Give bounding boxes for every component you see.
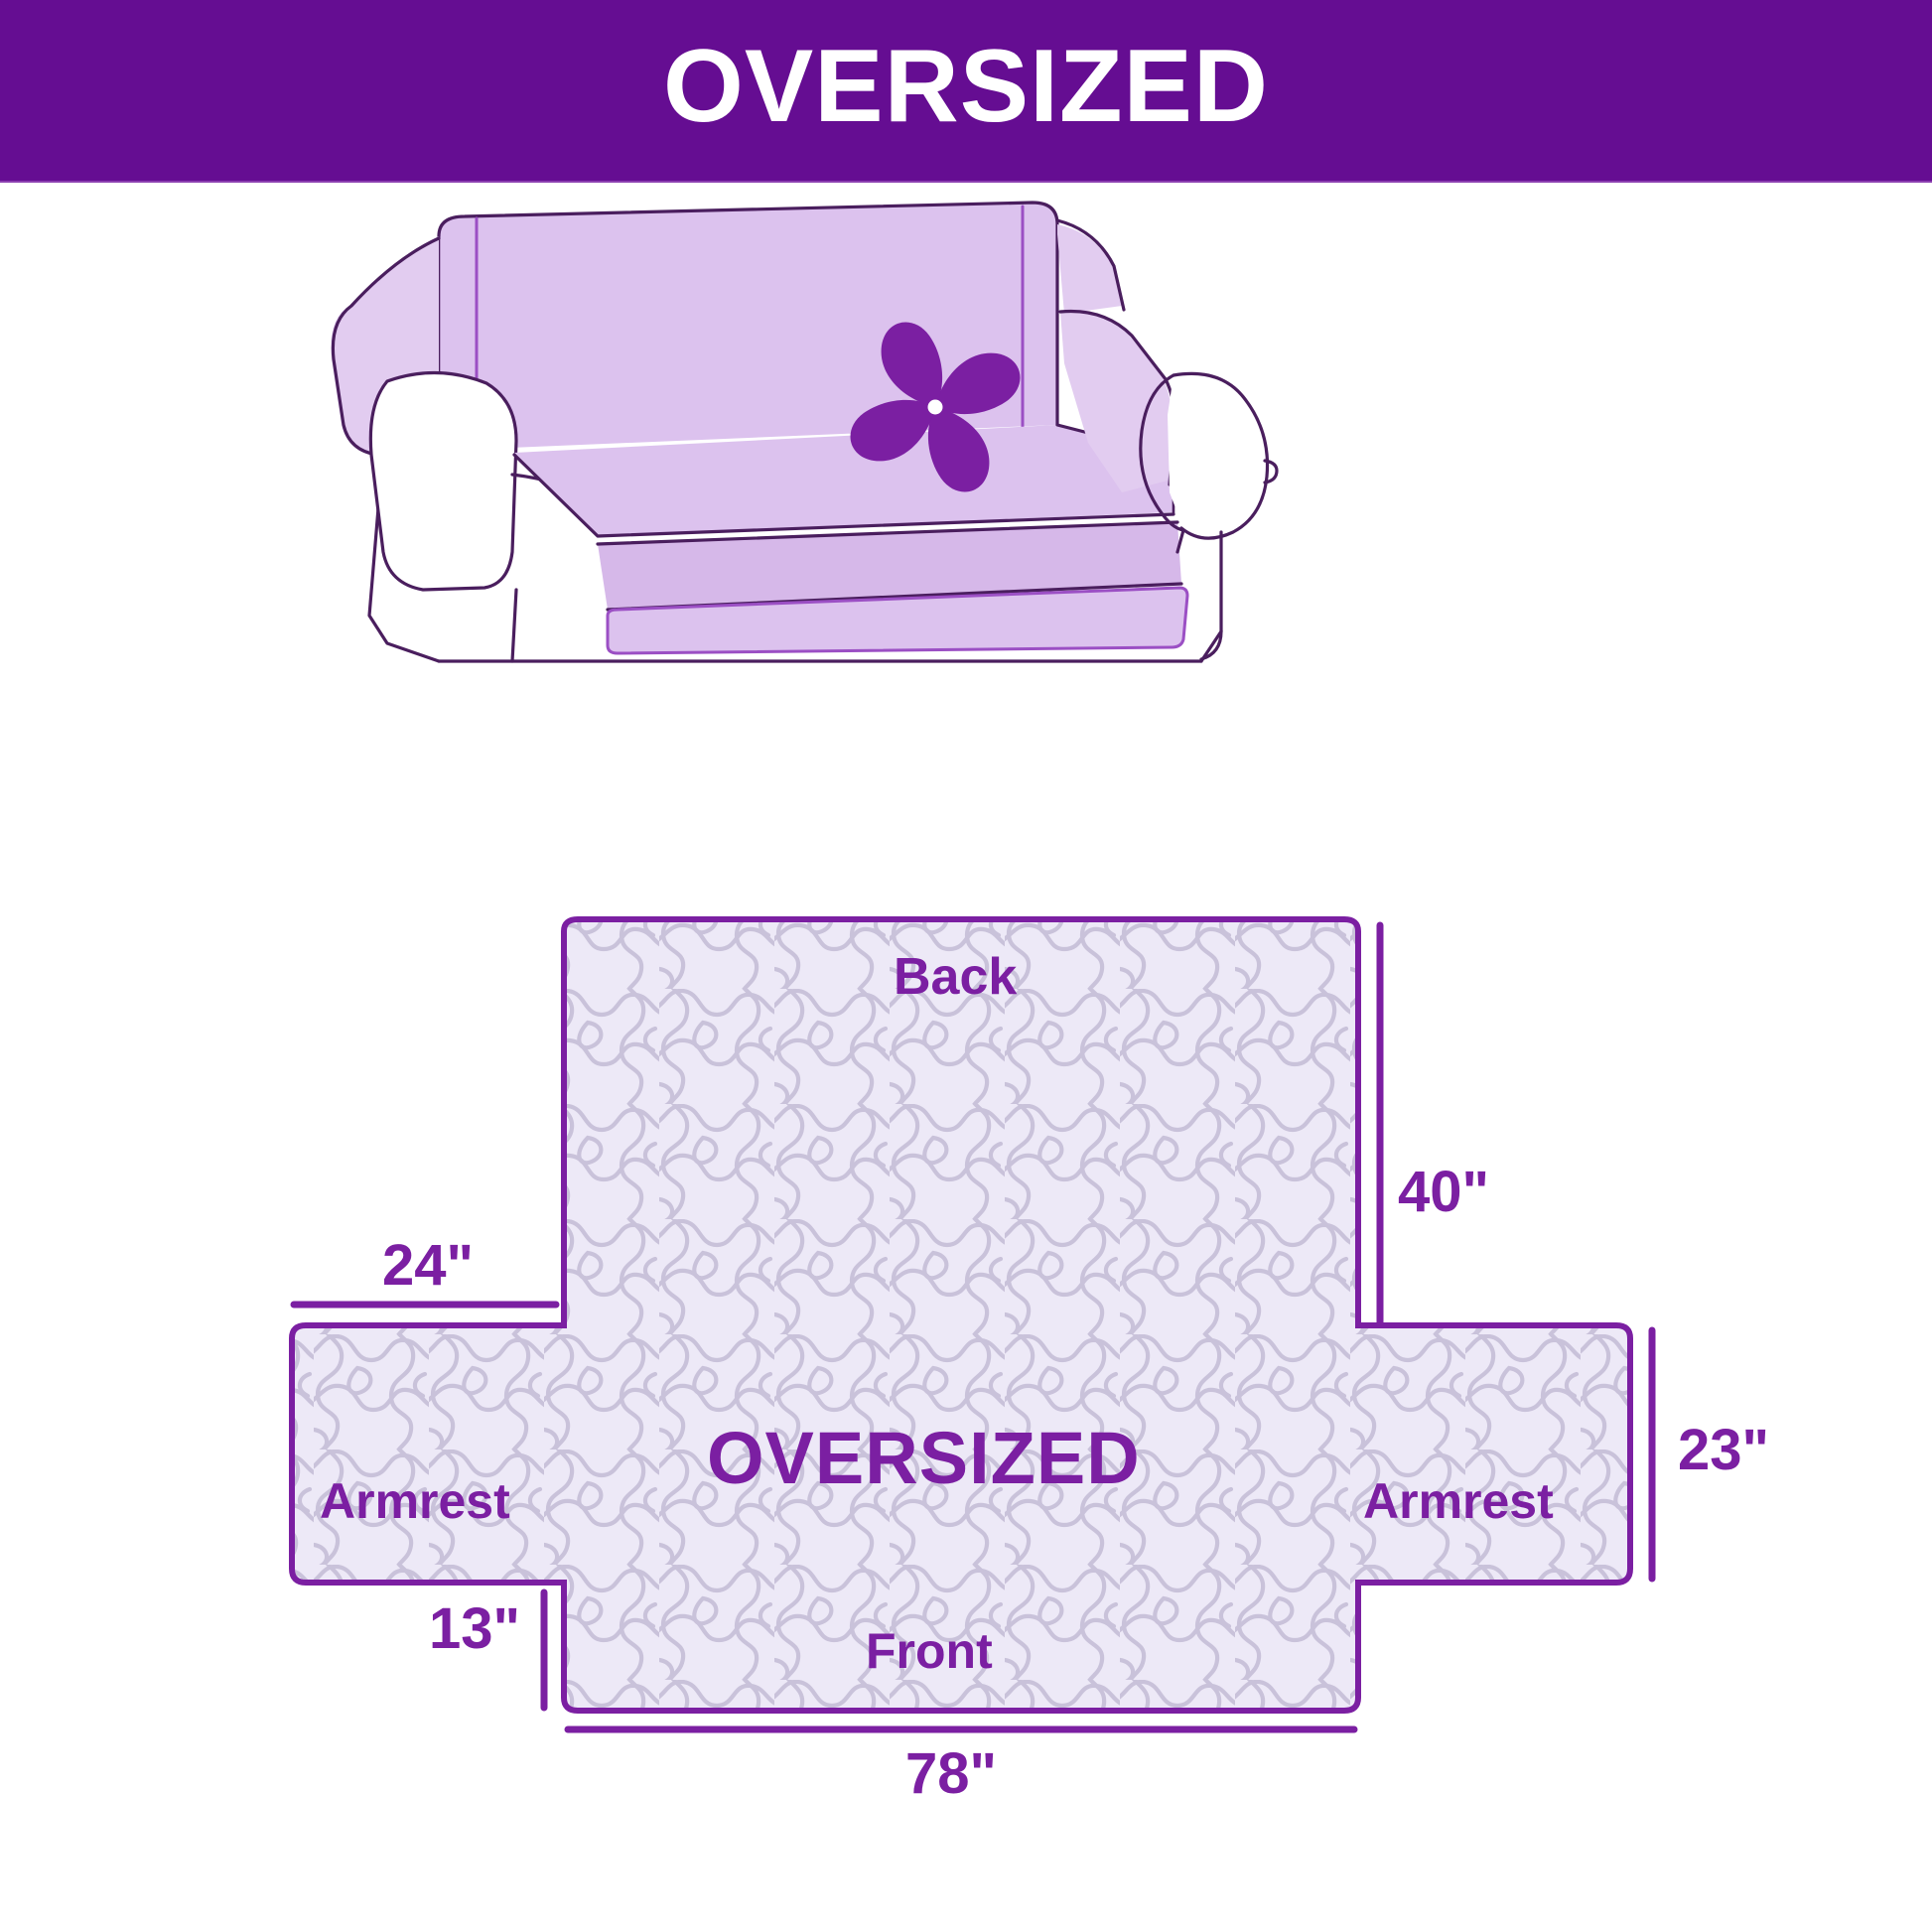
panel-label-seat: OVERSIZED bbox=[707, 1422, 1141, 1495]
panel-label-armrest-left: Armrest bbox=[320, 1476, 510, 1526]
dimension-label-back-inset: 24" bbox=[382, 1237, 474, 1295]
panel-label-front: Front bbox=[866, 1626, 993, 1676]
sofa-illustration: .ol { fill:none; stroke:#4A1E5E; stroke-… bbox=[328, 195, 1311, 691]
slipcover-diagram: .coveroutline { fill:url(#quilt); stroke… bbox=[199, 874, 1787, 1866]
header-banner: OVERSIZED bbox=[0, 0, 1932, 181]
dimension-label-front-drop: 13" bbox=[429, 1600, 520, 1658]
dimension-label-total-width: 78" bbox=[905, 1745, 997, 1803]
dimension-label-back-height: 40" bbox=[1398, 1164, 1489, 1221]
slipcover-outline bbox=[292, 919, 1630, 1711]
panel-label-back: Back bbox=[894, 951, 1017, 1003]
dimension-label-armrest-height: 23" bbox=[1678, 1422, 1769, 1479]
page-title: OVERSIZED bbox=[663, 35, 1269, 138]
panel-label-armrest-right: Armrest bbox=[1363, 1476, 1554, 1526]
